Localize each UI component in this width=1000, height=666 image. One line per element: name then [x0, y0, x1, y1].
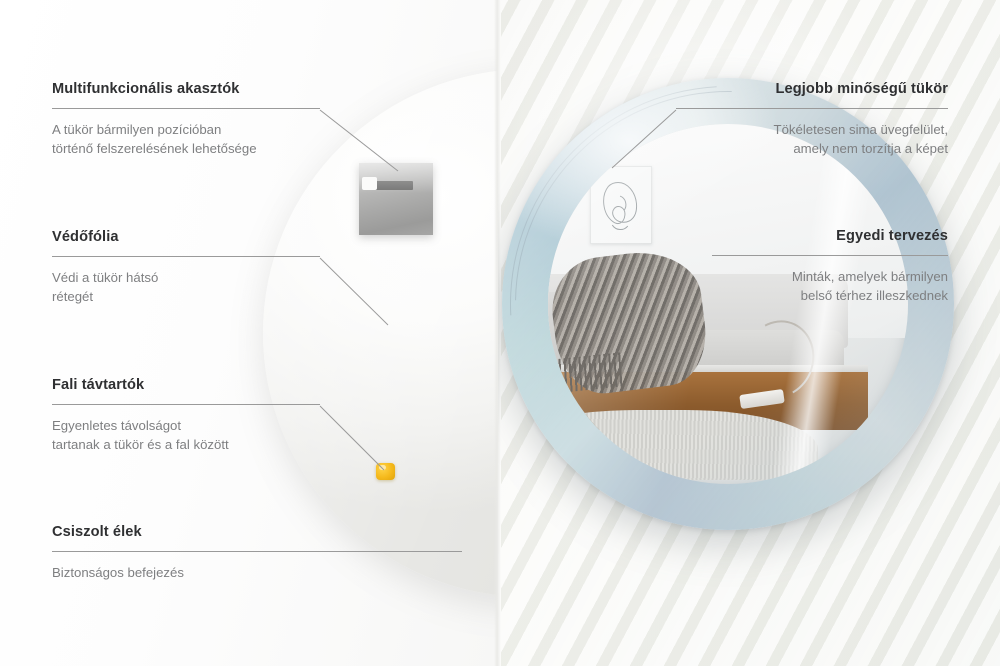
callout-description: Egyenletes távolságot tartanak a tükör é…	[52, 417, 320, 454]
callout-vedofolia: Védőfólia Védi a tükör hátsó rétegét	[52, 229, 320, 306]
callout-title: Legjobb minőségű tükör	[676, 81, 948, 97]
callout-description: Védi a tükör hátsó rétegét	[52, 269, 320, 306]
callout-legjobb-minosegu-tukor: Legjobb minőségű tükör Tökéletesen sima …	[676, 81, 948, 158]
callout-title: Fali távtartók	[52, 377, 320, 393]
callout-title: Multifunkcionális akasztók	[52, 81, 320, 97]
callout-description: Minták, amelyek bármilyen belső térhez i…	[712, 268, 948, 305]
callout-rule	[52, 256, 320, 257]
callout-title: Védőfólia	[52, 229, 320, 245]
callout-rule	[712, 255, 948, 256]
hanger-slot	[371, 181, 413, 190]
callout-description: A tükör bármilyen pozícióban történő fel…	[52, 121, 320, 158]
hanger-plate-icon	[359, 163, 433, 235]
callout-csiszolt-elek: Csiszolt élek Biztonságos befejezés	[52, 524, 462, 583]
callout-rule	[52, 551, 462, 552]
callout-description: Biztonságos befejezés	[52, 564, 462, 583]
infographic-stage: Multifunkcionális akasztók A tükör bármi…	[0, 0, 1000, 666]
callout-rule	[676, 108, 948, 109]
callout-title: Egyedi tervezés	[712, 228, 948, 244]
spacer-highlight	[379, 465, 386, 470]
callout-title: Csiszolt élek	[52, 524, 462, 540]
callout-rule	[52, 404, 320, 405]
callout-multifunkcionalis-akasztok: Multifunkcionális akasztók A tükör bármi…	[52, 81, 320, 158]
callout-rule	[52, 108, 320, 109]
callout-egyedi-tervezes: Egyedi tervezés Minták, amelyek bármilye…	[712, 228, 948, 305]
callout-description: Tökéletesen sima üvegfelület, amely nem …	[676, 121, 948, 158]
wall-spacer-icon	[376, 463, 395, 480]
callout-fali-tavtartok: Fali távtartók Egyenletes távolságot tar…	[52, 377, 320, 454]
